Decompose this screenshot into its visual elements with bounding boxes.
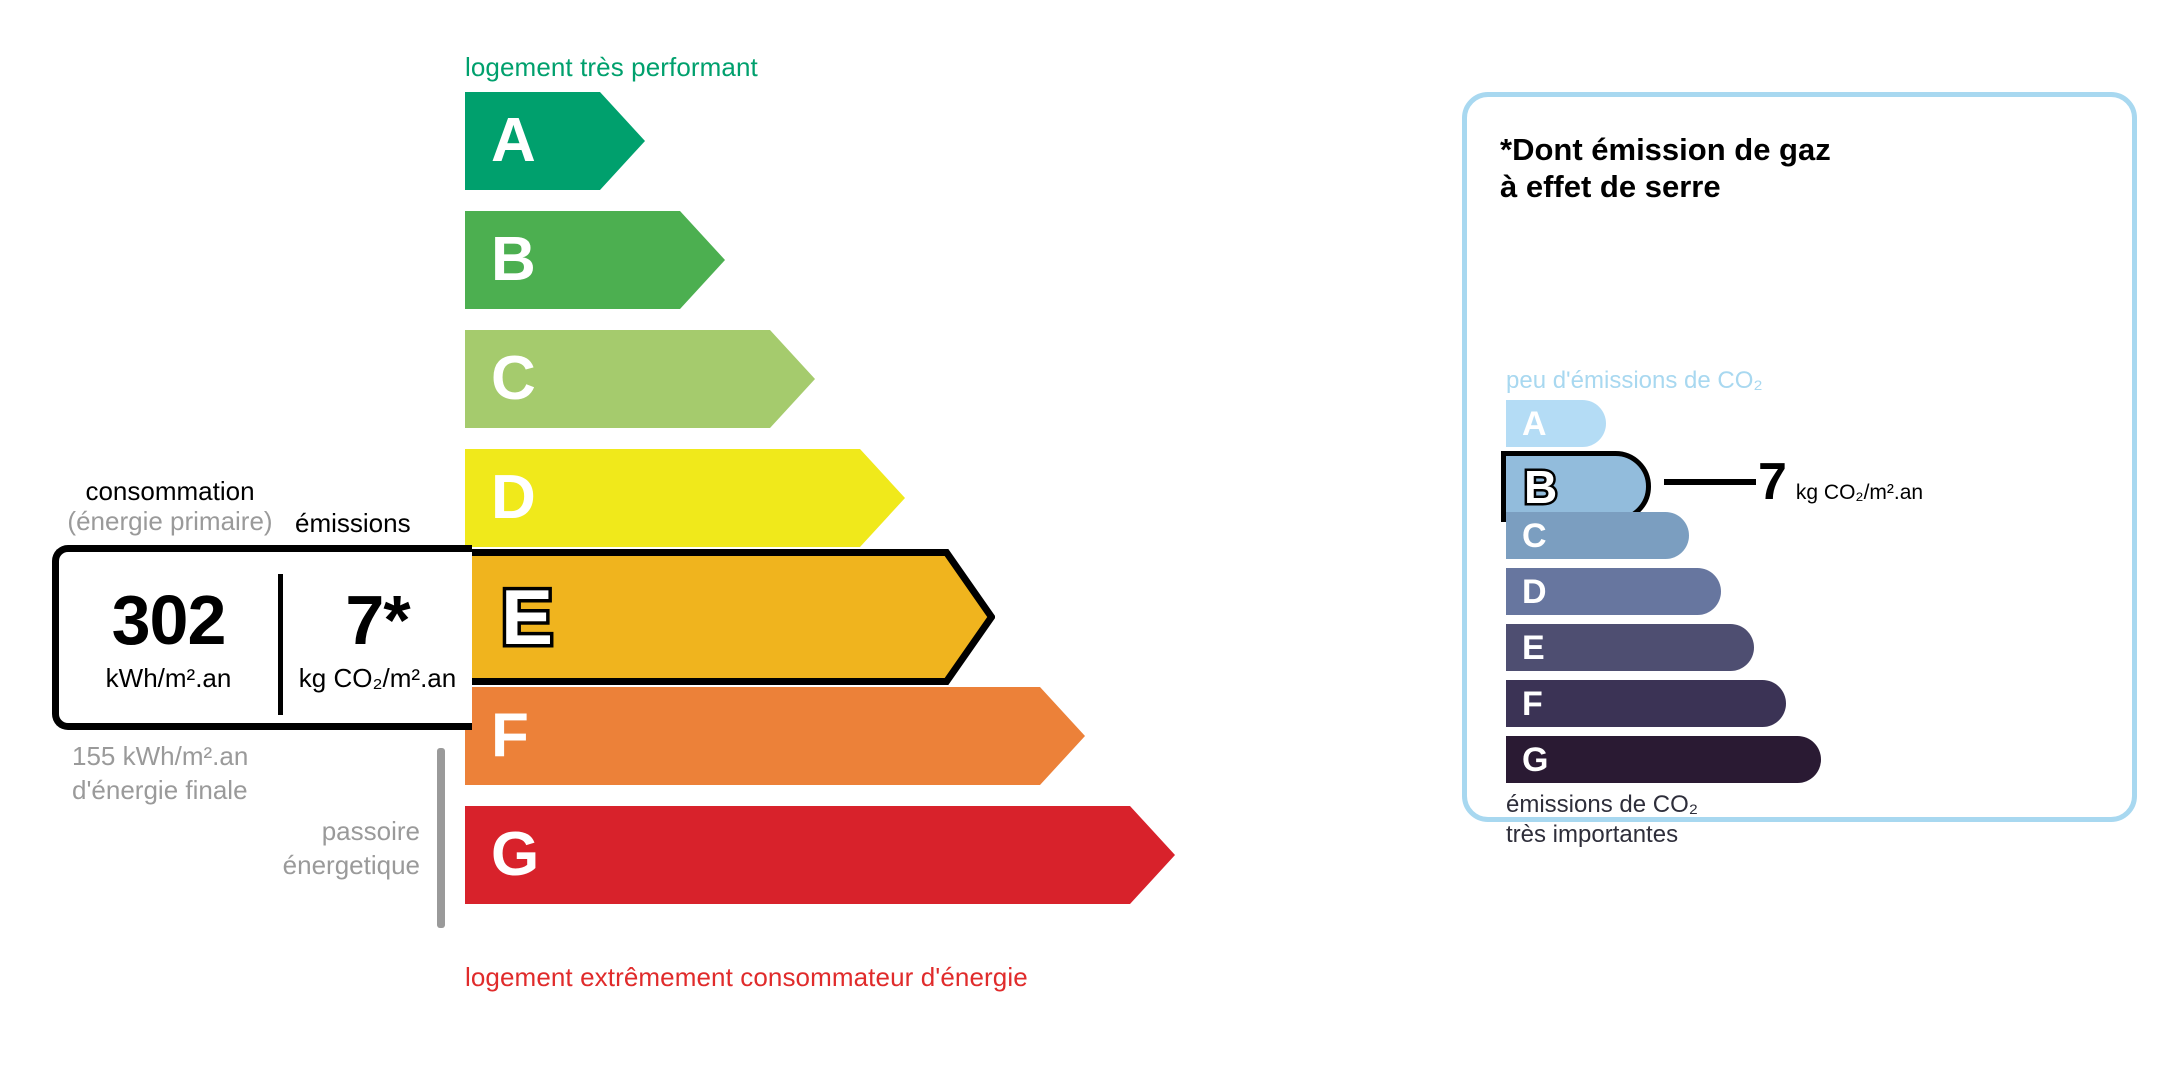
energy-band-list: ABCDEFG <box>465 92 1265 942</box>
energy-band-letter-b: B <box>491 229 536 291</box>
co2-band-letter-b: B <box>1524 464 1557 510</box>
co2-bottom-caption-line2: très importantes <box>1506 820 1698 850</box>
co2-title-line1: *Dont émission de gaz <box>1500 132 1831 169</box>
value-box: 302 kWh/m².an 7* kg CO₂/m².an <box>52 545 472 730</box>
primary-energy-cell: 302 kWh/m².an <box>59 552 278 723</box>
emission-value: 7* <box>345 585 409 655</box>
energy-band-letter-e: E <box>501 578 553 656</box>
co2-band-letter-f: F <box>1522 687 1543 721</box>
energy-band-arrow-g <box>465 806 1175 904</box>
co2-band-list: AB7kg CO₂/m².anCDEFG <box>1506 400 2106 785</box>
emission-unit: kg CO₂/m².an <box>299 665 456 691</box>
primary-energy-value: 302 <box>112 585 226 655</box>
co2-value: 7 <box>1758 456 1787 508</box>
energy-top-caption: logement très performant <box>465 52 758 83</box>
co2-band-letter-e: E <box>1522 631 1545 665</box>
energy-bottom-caption: logement extrêmement consommateur d'éner… <box>465 962 1028 993</box>
co2-bottom-caption-line1: émissions de CO₂ <box>1506 790 1698 820</box>
energy-band-b: B <box>465 211 725 309</box>
consumption-label-main: consommation <box>85 476 254 506</box>
energy-performance-chart: logement très performant ABCDEFG logemen… <box>0 0 1330 1079</box>
co2-top-caption: peu d'émissions de CO₂ <box>1506 367 1763 395</box>
primary-energy-unit: kWh/m².an <box>106 665 232 691</box>
energy-band-letter-d: D <box>491 467 536 529</box>
emission-cell: 7* kg CO₂/m².an <box>283 552 472 723</box>
dpe-diagram: logement très performant ABCDEFG logemen… <box>0 0 2170 1079</box>
co2-band-f: F <box>1506 680 1786 727</box>
energy-band-a: A <box>465 92 645 190</box>
passoire-line2: énergetique <box>200 849 420 883</box>
emissions-label: émissions <box>295 509 445 539</box>
energy-band-c: C <box>465 330 815 428</box>
co2-panel: *Dont émission de gaz à effet de serre p… <box>1462 92 2137 822</box>
co2-band-d: D <box>1506 568 1721 615</box>
energy-band-g: G <box>465 806 1175 904</box>
co2-bottom-caption: émissions de CO₂ très importantes <box>1506 790 1698 850</box>
co2-value-group: 7kg CO₂/m².an <box>1758 456 1923 508</box>
co2-title: *Dont émission de gaz à effet de serre <box>1500 132 1831 205</box>
co2-band-letter-d: D <box>1522 575 1547 609</box>
energy-band-letter-g: G <box>491 824 539 886</box>
energy-band-arrow-f <box>465 687 1085 785</box>
passoire-bracket <box>437 748 445 928</box>
consumption-label: consommation (énergie primaire) <box>60 477 280 537</box>
co2-band-letter-g: G <box>1522 743 1548 777</box>
consumption-label-sub: (énergie primaire) <box>60 507 280 537</box>
co2-band-a: A <box>1506 400 1606 447</box>
energy-band-letter-a: A <box>491 110 536 172</box>
final-energy-line1: 155 kWh/m².an <box>72 740 248 774</box>
energy-band-letter-f: F <box>491 705 529 767</box>
co2-band-c: C <box>1506 512 1689 559</box>
passoire-label: passoire énergetique <box>200 815 420 883</box>
co2-band-letter-a: A <box>1522 407 1547 441</box>
co2-band-letter-c: C <box>1522 519 1547 553</box>
co2-leader-line <box>1664 479 1756 485</box>
co2-band-e: E <box>1506 624 1754 671</box>
final-energy-label: 155 kWh/m².an d'énergie finale <box>72 740 248 808</box>
energy-band-d: D <box>465 449 905 547</box>
co2-band-g: G <box>1506 736 1821 783</box>
energy-band-f: F <box>465 687 1085 785</box>
final-energy-line2: d'énergie finale <box>72 774 248 808</box>
energy-band-letter-c: C <box>491 348 536 410</box>
co2-title-line2: à effet de serre <box>1500 169 1831 206</box>
co2-unit: kg CO₂/m².an <box>1796 482 1923 503</box>
passoire-line1: passoire <box>200 815 420 849</box>
energy-band-e: E <box>465 549 995 685</box>
